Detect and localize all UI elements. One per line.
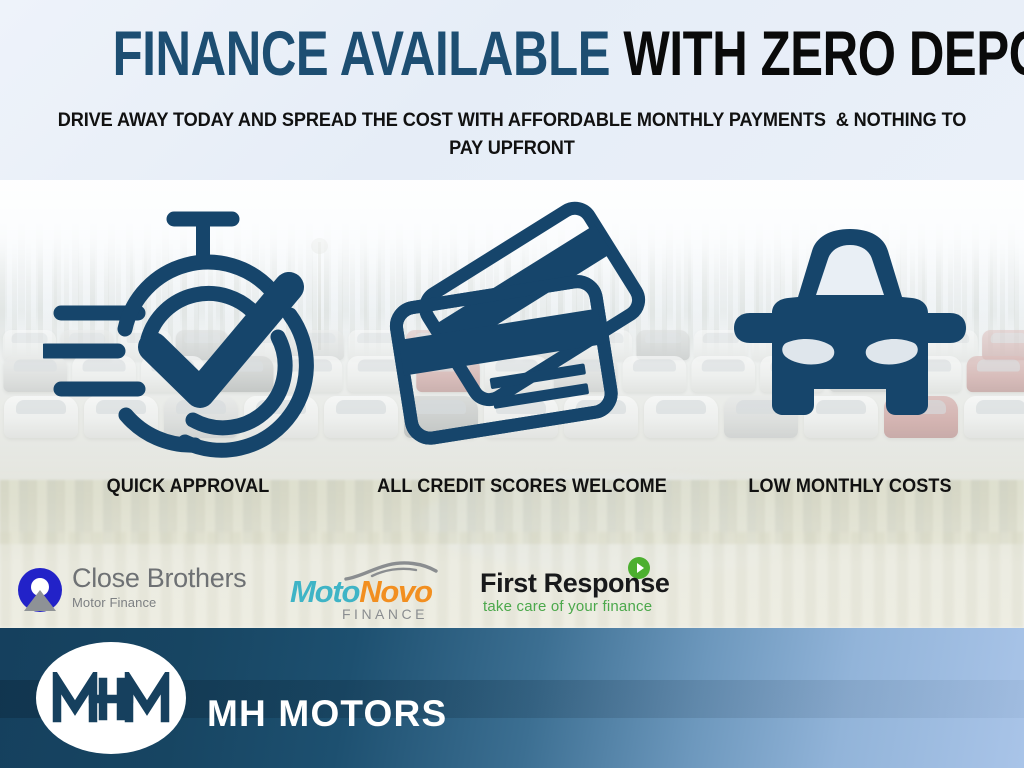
promo-banner: FINANCE AVAILABLE WITH ZERO DEPOSIT DRIV… xyxy=(0,0,1024,768)
motonovo-novo: Novo xyxy=(359,574,432,609)
credit-cards-icon xyxy=(352,192,692,472)
close-brothers-subtitle: Motor Finance xyxy=(72,595,246,610)
partner-logo-first-response: First Response take care of your finance xyxy=(480,552,680,628)
partner-logo-motonovo: MotoNovo FINANCE xyxy=(290,552,450,628)
first-response-name: First Response xyxy=(480,568,669,599)
finance-partner-logos: Close Brothers Motor Finance MotoNovo FI… xyxy=(0,552,1024,628)
motonovo-wordmark: MotoNovo xyxy=(290,574,432,610)
headline-blue-part: FINANCE AVAILABLE xyxy=(113,19,624,89)
feature-row: QUICK APPROVAL xyxy=(0,180,1024,540)
company-name: MH MOTORS xyxy=(207,693,447,735)
stopwatch-check-icon xyxy=(18,192,358,472)
headline-black-part: WITH ZERO DEPOSIT xyxy=(623,19,1024,89)
close-brothers-mark-icon xyxy=(16,566,64,614)
mhm-logo xyxy=(36,642,186,754)
partner-logo-close-brothers: Close Brothers Motor Finance xyxy=(16,552,256,628)
close-brothers-wordmark: Close Brothers Motor Finance xyxy=(72,565,246,610)
feature-caption: QUICK APPROVAL xyxy=(27,476,350,498)
feature-all-credit-scores: ALL CREDIT SCORES WELCOME xyxy=(352,180,692,540)
feature-caption: ALL CREDIT SCORES WELCOME xyxy=(361,476,684,498)
close-brothers-name: Close Brothers xyxy=(72,565,246,592)
motonovo-moto: Moto xyxy=(290,574,359,609)
brand-footer-bar: MH MOTORS 35 YEARS IN BUSINESS xyxy=(0,628,1024,768)
feature-caption: LOW MONTHLY COSTS xyxy=(689,476,1012,498)
car-front-icon xyxy=(680,192,1020,472)
feature-low-monthly-costs: LOW MONTHLY COSTS xyxy=(680,180,1020,540)
feature-quick-approval: QUICK APPROVAL xyxy=(18,180,358,540)
subheadline: DRIVE AWAY TODAY AND SPREAD THE COST WIT… xyxy=(54,106,969,163)
motonovo-finance-label: FINANCE xyxy=(342,606,428,622)
header-band: FINANCE AVAILABLE WITH ZERO DEPOSIT DRIV… xyxy=(0,0,1024,180)
page-title: FINANCE AVAILABLE WITH ZERO DEPOSIT xyxy=(113,24,912,86)
first-response-tagline: take care of your finance xyxy=(483,598,652,615)
